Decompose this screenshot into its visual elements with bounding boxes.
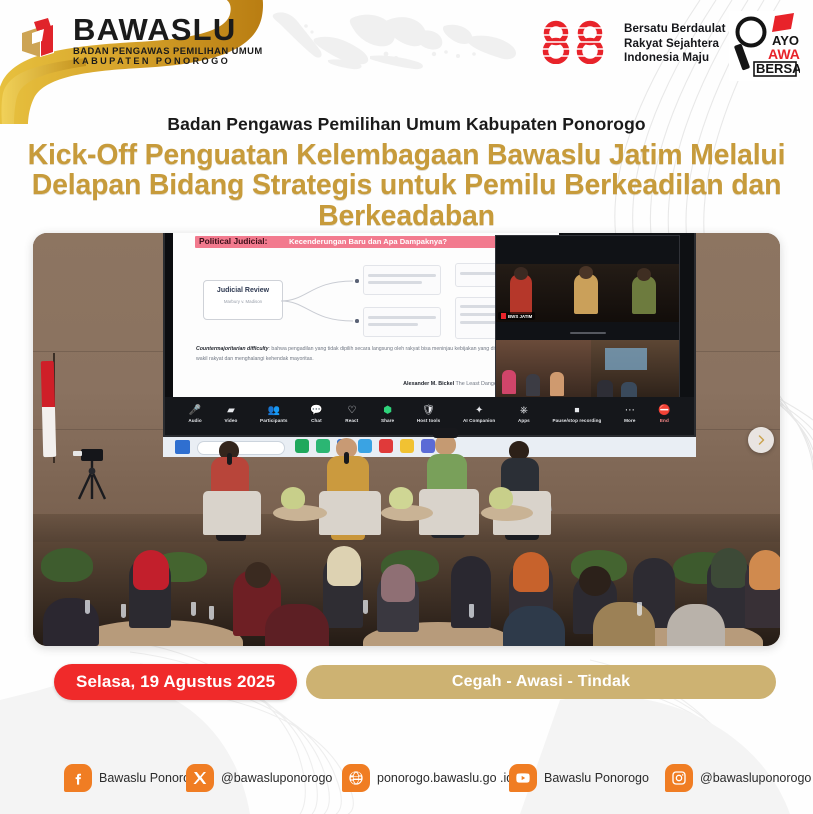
youtube-icon [509,764,537,792]
zoom-ai-companion-button[interactable]: ✦ AI Companion [452,405,507,423]
ellipsis-icon: ⋯ [613,405,647,416]
zoom-video-button[interactable]: ▰ Video [213,405,249,423]
zoom-recording-button[interactable]: ⏹ Pause/stop recording [541,405,613,423]
table-flowers [281,487,305,509]
folder-icon[interactable] [400,439,414,453]
slide-banner-rest: Kecenderungan Baru dan Apa Dampaknya? [289,237,447,246]
audience-member [503,606,565,646]
slogan-line-2: Rakyat Sejahtera [624,37,726,51]
audience-member [667,604,725,646]
end-call-icon: ⛔ [647,405,682,416]
page-title: Kick-Off Penguatan Kelembagaan Bawaslu J… [4,140,809,231]
audience-member [593,602,655,646]
zoom-apps-button[interactable]: ⎈ Apps [507,405,542,423]
footer-website[interactable]: ponorogo.bawaslu.go .id [342,764,513,792]
excel-icon[interactable] [295,439,309,453]
slide-paragraph-bold: Countermajoritarian difficulty [196,346,269,352]
audience-area [33,542,780,646]
slide-node-2 [363,307,441,337]
anniversary-number [536,20,616,68]
audience-member [245,562,271,588]
footer-facebook[interactable]: Bawaslu Ponorogo [64,764,204,792]
tagline-badge: Cegah - Awasi - Tindak [306,665,776,699]
slide-node-1 [363,265,441,295]
shield-icon: 🛡 [406,405,452,416]
logo-wordmark: BAWASLU [73,14,263,45]
whatsapp-icon[interactable] [316,439,330,453]
audience-member [579,566,611,596]
table-flowers [489,487,513,509]
audience-member [749,550,780,590]
judicial-review-title: Judicial Review [204,287,282,294]
poster-header: BAWASLU BADAN PENGAWAS PEMILIHAN UMUM KA… [0,0,813,112]
windows-taskbar [163,437,696,457]
chevron-right-icon [755,434,767,446]
facebook-icon [64,764,92,792]
anniversary-slogan: Bersatu Berdaulat Rakyat Sejahtera Indon… [624,22,726,65]
audience-member [513,552,549,592]
sparkle-icon: ✦ [452,405,507,416]
telegram-icon[interactable] [358,439,372,453]
event-date-badge: Selasa, 19 Agustus 2025 [54,664,297,700]
social-media-footer: Bawaslu Ponorogo @bawasluponorogo ponoro… [0,742,813,814]
footer-x[interactable]: @bawasluponorogo [186,764,332,792]
zoom-react-button[interactable]: ♡ React [334,405,370,423]
badges-row: Selasa, 19 Agustus 2025 Cegah - Awasi - … [0,664,813,704]
instagram-icon [665,764,693,792]
zoom-end-button[interactable]: ⛔ End [647,405,682,423]
footer-instagram-handle: @bawasluponorogo [700,771,811,785]
chat-bubble-icon: 💬 [299,405,334,416]
audience-member [265,604,329,646]
table-flowers [389,487,413,509]
video-camera-tripod [67,445,123,501]
indonesian-flag [41,361,57,457]
video-tile-label: BWS JATIM [498,312,535,320]
zoom-participants-button[interactable]: 👥 Participants [249,405,299,423]
citation-author: Alexander M. Bickel [403,381,454,387]
projector-screen: Political Judicial: Kecenderungan Baru d… [163,233,696,437]
zoom-share-button[interactable]: ⬢ Share [370,405,406,423]
svg-text:BERSAMA: BERSAMA [756,61,800,76]
slogan-line-1: Bersatu Berdaulat [624,22,726,36]
slide-banner-bold: Political Judicial: [199,236,267,246]
microphone-icon: 🎤 [177,405,213,416]
zoom-app-icon[interactable] [421,439,435,453]
logo-subtitle-1: BADAN PENGAWAS PEMILIHAN UMUM [73,46,263,55]
audience-member [43,598,99,646]
slogan-line-3: Indonesia Maju [624,51,726,65]
footer-youtube-handle: Bawaslu Ponorogo [544,771,649,785]
bawaslu-logo: BAWASLU BADAN PENGAWAS PEMILIHAN UMUM KA… [18,14,263,66]
footer-website-url: ponorogo.bawaslu.go .id [377,771,513,785]
audience-member [711,548,747,588]
taskbar-search-box[interactable] [197,441,285,455]
eighty-glyph-icon [536,20,616,64]
judicial-review-sub: Marbury v. Madison [207,299,279,306]
armchair [319,491,381,535]
zoom-chat-button[interactable]: 💬 Chat [299,405,334,423]
zoom-host-tools-button[interactable]: 🛡 Host tools [406,405,452,423]
windows-start-icon[interactable] [175,440,190,454]
globe-icon [342,764,370,792]
anniversary-80-logo: Bersatu Berdaulat Rakyat Sejahtera Indon… [536,20,726,68]
apps-icon: ⎈ [507,405,542,416]
zoom-video-panel: BWS JATIM BWS_PROVINSI JAWATIM [495,235,680,415]
slide-banner: Political Judicial: Kecenderungan Baru d… [195,236,525,248]
share-screen-icon: ⬢ [370,405,406,416]
audience-member [327,546,361,586]
recording-icon: ⏹ [541,405,613,416]
zoom-toolbar: 🎤 Audio ▰ Video 👥 Participants 💬 Chat [165,397,694,435]
armchair [203,491,261,535]
audience-member [381,564,415,602]
judicial-review-box: Judicial Review Marbury v. Madison [203,280,283,320]
zoom-more-button[interactable]: ⋯ More [613,405,647,423]
ayo-awasi-bersama-logo: AYO AWASI BERSAMA [728,10,800,82]
slide-paragraph: Countermajoritarian difficulty: bahwa pe… [196,345,536,364]
pdf-icon[interactable] [379,439,393,453]
footer-youtube[interactable]: Bawaslu Ponorogo [509,764,649,792]
heart-icon: ♡ [334,405,370,416]
organization-subtitle: Badan Pengawas Pemilihan Umum Kabupaten … [0,114,813,135]
logo-subtitle-2: KABUPATEN PONOROGO [73,57,263,66]
people-icon: 👥 [249,405,299,416]
taskbar-icons [295,439,435,453]
svg-text:AWASI: AWASI [768,46,800,62]
audience-member [133,550,169,590]
zoom-audio-button[interactable]: 🎤 Audio [177,405,213,423]
slide-connector-lines [281,273,355,329]
bawaslu-ballot-box-icon [18,17,64,63]
footer-x-handle: @bawasluponorogo [221,771,332,785]
video-tile-main: BWS JATIM [496,264,679,322]
next-slide-arrow-button[interactable] [748,427,774,453]
camera-icon: ▰ [213,405,249,416]
poster-canvas: BAWASLU BADAN PENGAWAS PEMILIHAN UMUM KA… [0,0,813,814]
footer-instagram[interactable]: @bawasluponorogo [665,764,811,792]
x-twitter-icon [186,764,214,792]
event-photo: Political Judicial: Kecenderungan Baru d… [33,233,780,646]
